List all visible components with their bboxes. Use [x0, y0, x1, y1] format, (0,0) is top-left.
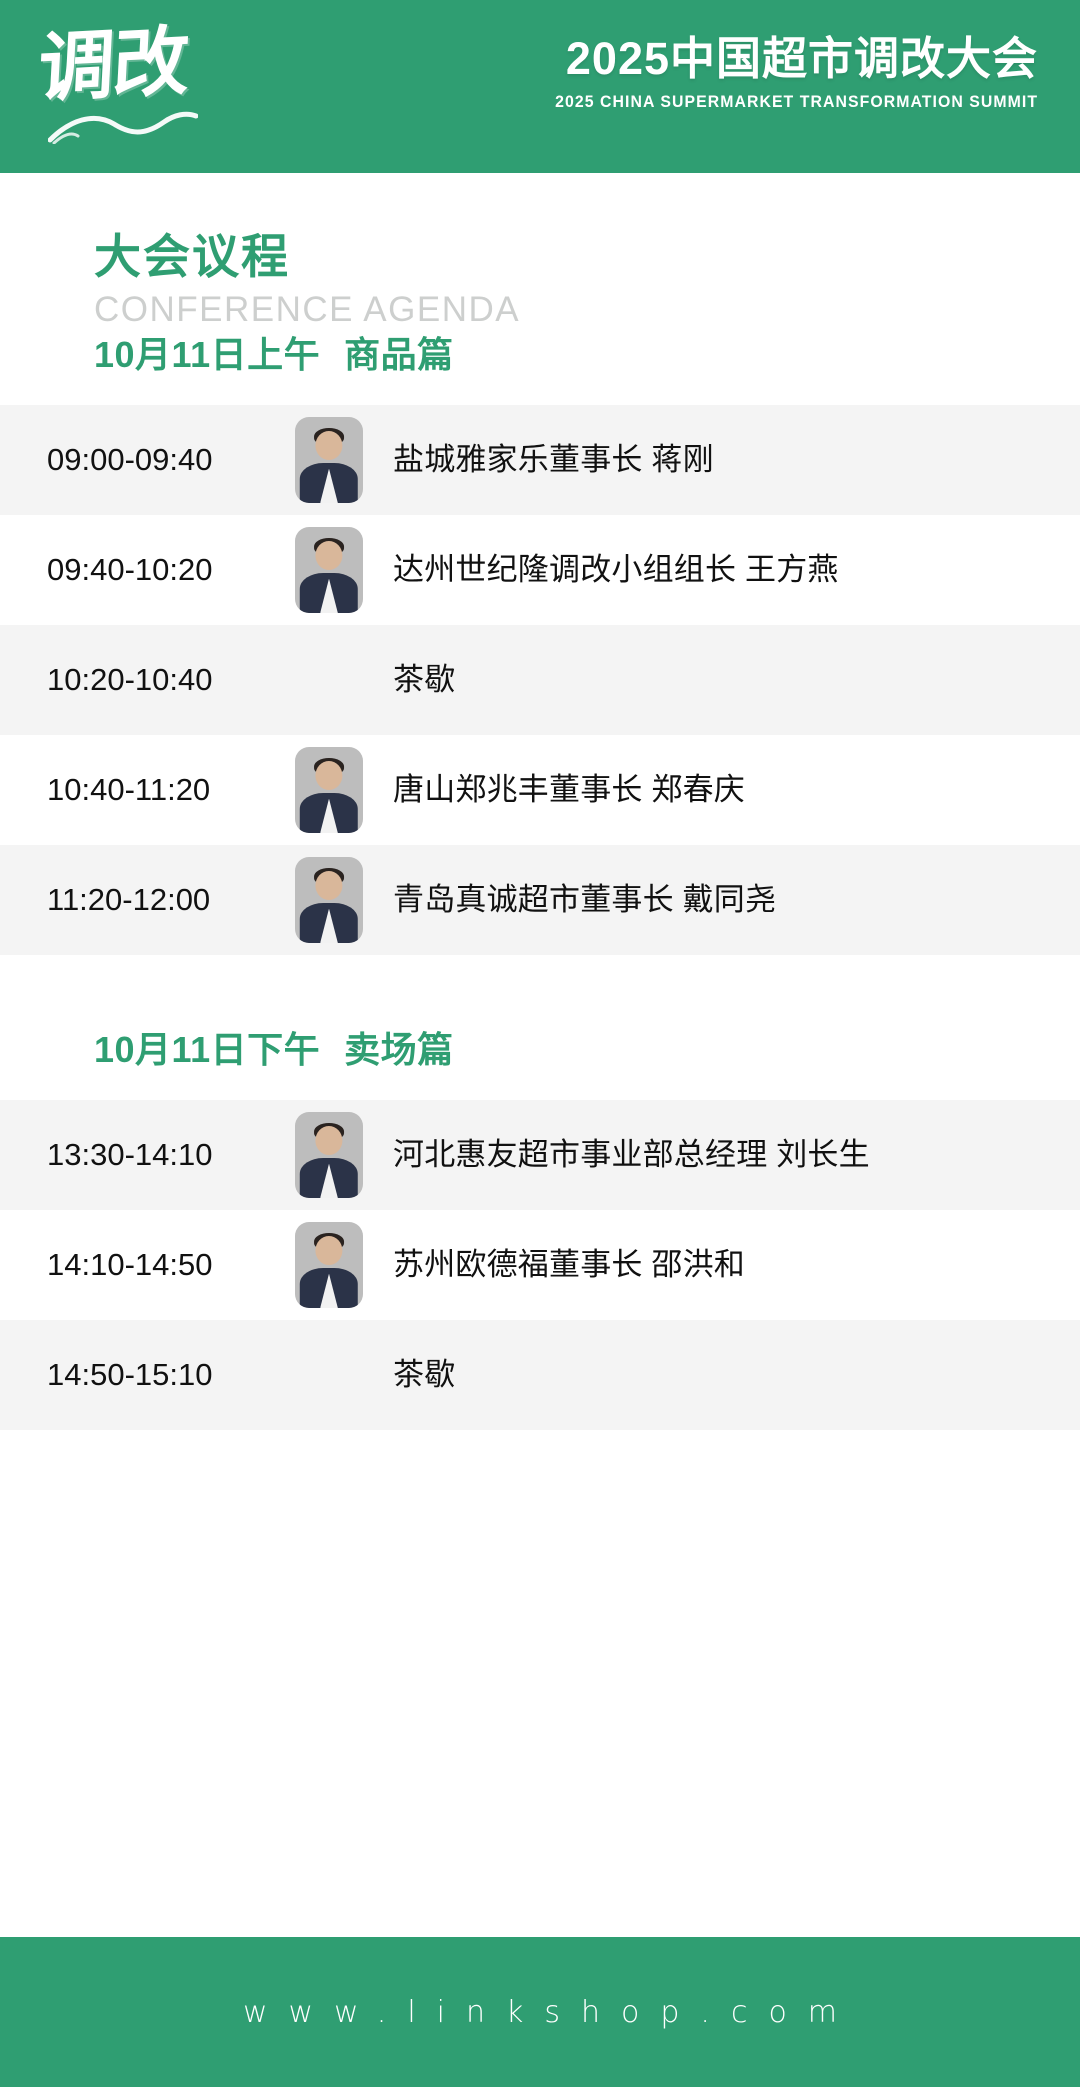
table-row: 14:10-14:50苏州欧德福董事长 邵洪和 [0, 1210, 1080, 1320]
row-speaker: 茶歇 [393, 659, 1080, 701]
avatar-head [315, 541, 342, 570]
avatar-head [315, 871, 342, 900]
table-row: 14:50-15:10茶歇 [0, 1320, 1080, 1430]
row-speaker: 达州世纪隆调改小组组长 王方燕 [393, 549, 1080, 591]
row-speaker: 河北惠友超市事业部总经理 刘长生 [393, 1134, 1080, 1176]
row-speaker: 苏州欧德福董事长 邵洪和 [393, 1244, 1080, 1286]
agenda-content: 大会议程 CONFERENCE AGENDA 10月11日上午商品篇09:00-… [0, 173, 1080, 1937]
session-block: 10月11日下午卖场篇13:30-14:10河北惠友超市事业部总经理 刘长生14… [0, 1027, 1080, 1430]
avatar [295, 527, 363, 613]
session-date: 10月11日上午 [94, 334, 320, 375]
session-title: 10月11日下午卖场篇 [0, 1027, 1080, 1073]
avatar [295, 1112, 363, 1198]
session-title: 10月11日上午商品篇 [0, 332, 1080, 378]
session-topic: 卖场篇 [344, 1029, 454, 1070]
avatar [295, 1222, 363, 1308]
page-title: 大会议程 [94, 228, 1080, 286]
row-time: 09:00-09:40 [47, 440, 295, 480]
avatar [295, 417, 363, 503]
session-topic: 商品篇 [344, 334, 454, 375]
banner-title-english: 2025 CHINA SUPERMARKET TRANSFORMATION SU… [555, 89, 1038, 115]
header-banner: 调改 2025中国超市调改大会 2025 CHINA SUPERMARKET T… [0, 0, 1080, 173]
row-speaker: 茶歇 [393, 1354, 1080, 1396]
sessions-container: 10月11日上午商品篇09:00-09:40盐城雅家乐董事长 蒋刚09:40-1… [0, 332, 1080, 1430]
row-time: 10:40-11:20 [47, 770, 295, 810]
session-row-list: 09:00-09:40盐城雅家乐董事长 蒋刚09:40-10:20达州世纪隆调改… [0, 405, 1080, 955]
table-row: 13:30-14:10河北惠友超市事业部总经理 刘长生 [0, 1100, 1080, 1210]
row-speaker: 唐山郑兆丰董事长 郑春庆 [393, 769, 1080, 811]
banner-title-group: 2025中国超市调改大会 2025 CHINA SUPERMARKET TRAN… [535, 30, 1038, 115]
page-subtitle: CONFERENCE AGENDA [94, 288, 1080, 332]
avatar-head [315, 1236, 342, 1265]
row-time: 14:10-14:50 [47, 1245, 295, 1285]
row-speaker: 盐城雅家乐董事长 蒋刚 [393, 439, 1080, 481]
session-row-list: 13:30-14:10河北惠友超市事业部总经理 刘长生14:10-14:50苏州… [0, 1100, 1080, 1430]
avatar-head [315, 761, 342, 790]
row-time: 13:30-14:10 [47, 1135, 295, 1175]
table-row: 10:20-10:40茶歇 [0, 625, 1080, 735]
row-time: 09:40-10:20 [47, 550, 295, 590]
row-speaker: 青岛真诚超市董事长 戴同尧 [393, 879, 1080, 921]
session-block: 10月11日上午商品篇09:00-09:40盐城雅家乐董事长 蒋刚09:40-1… [0, 332, 1080, 955]
row-time: 11:20-12:00 [47, 880, 295, 920]
brand-logo-brushstroke-icon [48, 110, 198, 144]
row-time: 14:50-15:10 [47, 1355, 295, 1395]
footer-bar: www.linkshop.com [0, 1937, 1080, 2087]
table-row: 09:40-10:20达州世纪隆调改小组组长 王方燕 [0, 515, 1080, 625]
session-date: 10月11日下午 [94, 1029, 320, 1070]
avatar-head [315, 1126, 342, 1155]
avatar [295, 857, 363, 943]
table-row: 09:00-09:40盐城雅家乐董事长 蒋刚 [0, 405, 1080, 515]
avatar-placeholder [295, 1332, 363, 1418]
agenda-poster: 调改 2025中国超市调改大会 2025 CHINA SUPERMARKET T… [0, 0, 1080, 2087]
footer-website-url[interactable]: www.linkshop.com [222, 1995, 858, 2030]
banner-title-chinese: 2025中国超市调改大会 [535, 30, 1038, 88]
session-spacer [0, 955, 1080, 1027]
avatar-head [315, 431, 342, 460]
avatar-placeholder [295, 637, 363, 723]
table-row: 11:20-12:00青岛真诚超市董事长 戴同尧 [0, 845, 1080, 955]
avatar [295, 747, 363, 833]
table-row: 10:40-11:20唐山郑兆丰董事长 郑春庆 [0, 735, 1080, 845]
agenda-heading-block: 大会议程 CONFERENCE AGENDA [0, 173, 1080, 332]
row-time: 10:20-10:40 [47, 660, 295, 700]
